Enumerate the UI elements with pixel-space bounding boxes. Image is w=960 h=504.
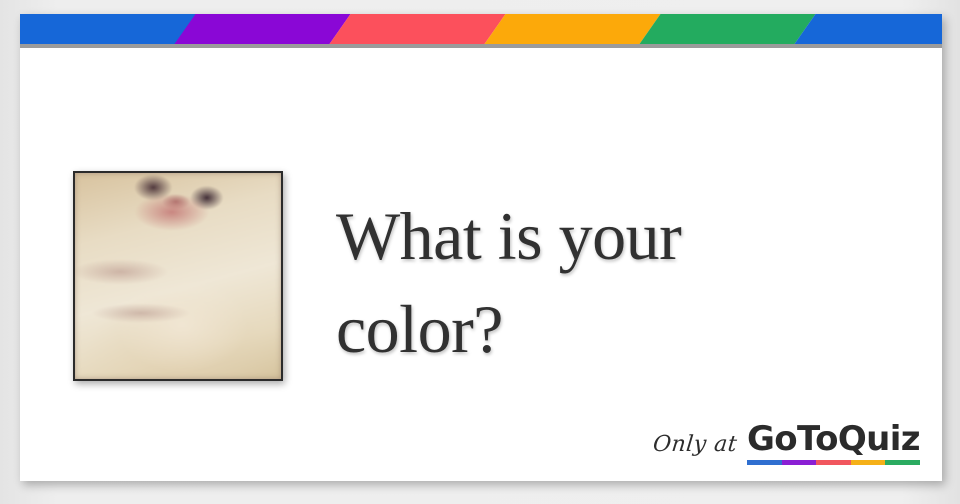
brand-underline-purple xyxy=(782,460,817,465)
topbar-segment-red xyxy=(329,14,505,44)
brand-mark[interactable]: GoToQuiz xyxy=(747,422,920,465)
page-title: What is your color? xyxy=(336,190,806,378)
brand-prefix: Only at xyxy=(651,432,738,457)
brand-underline-orange xyxy=(851,460,886,465)
quiz-photo xyxy=(73,171,283,381)
topbar-segment-green xyxy=(639,14,815,44)
topbar-segment-blue-2 xyxy=(794,14,942,44)
brand-underline-blue xyxy=(747,460,782,465)
topbar-segment-purple xyxy=(174,14,350,44)
quiz-photo-image xyxy=(75,173,281,379)
brand-underline-red xyxy=(816,460,851,465)
screenshot-stage: What is your color? Only at GoToQuiz xyxy=(0,0,960,504)
brand-name[interactable]: GoToQuiz xyxy=(747,422,920,457)
card-content: What is your color? Only at GoToQuiz xyxy=(20,48,942,481)
rainbow-topbar xyxy=(20,14,942,44)
brand-underline-green xyxy=(885,460,920,465)
brand-underline xyxy=(747,460,920,465)
quiz-card: What is your color? Only at GoToQuiz xyxy=(20,14,942,481)
brand-lockup[interactable]: Only at GoToQuiz xyxy=(653,422,920,465)
topbar-segment-orange xyxy=(484,14,660,44)
